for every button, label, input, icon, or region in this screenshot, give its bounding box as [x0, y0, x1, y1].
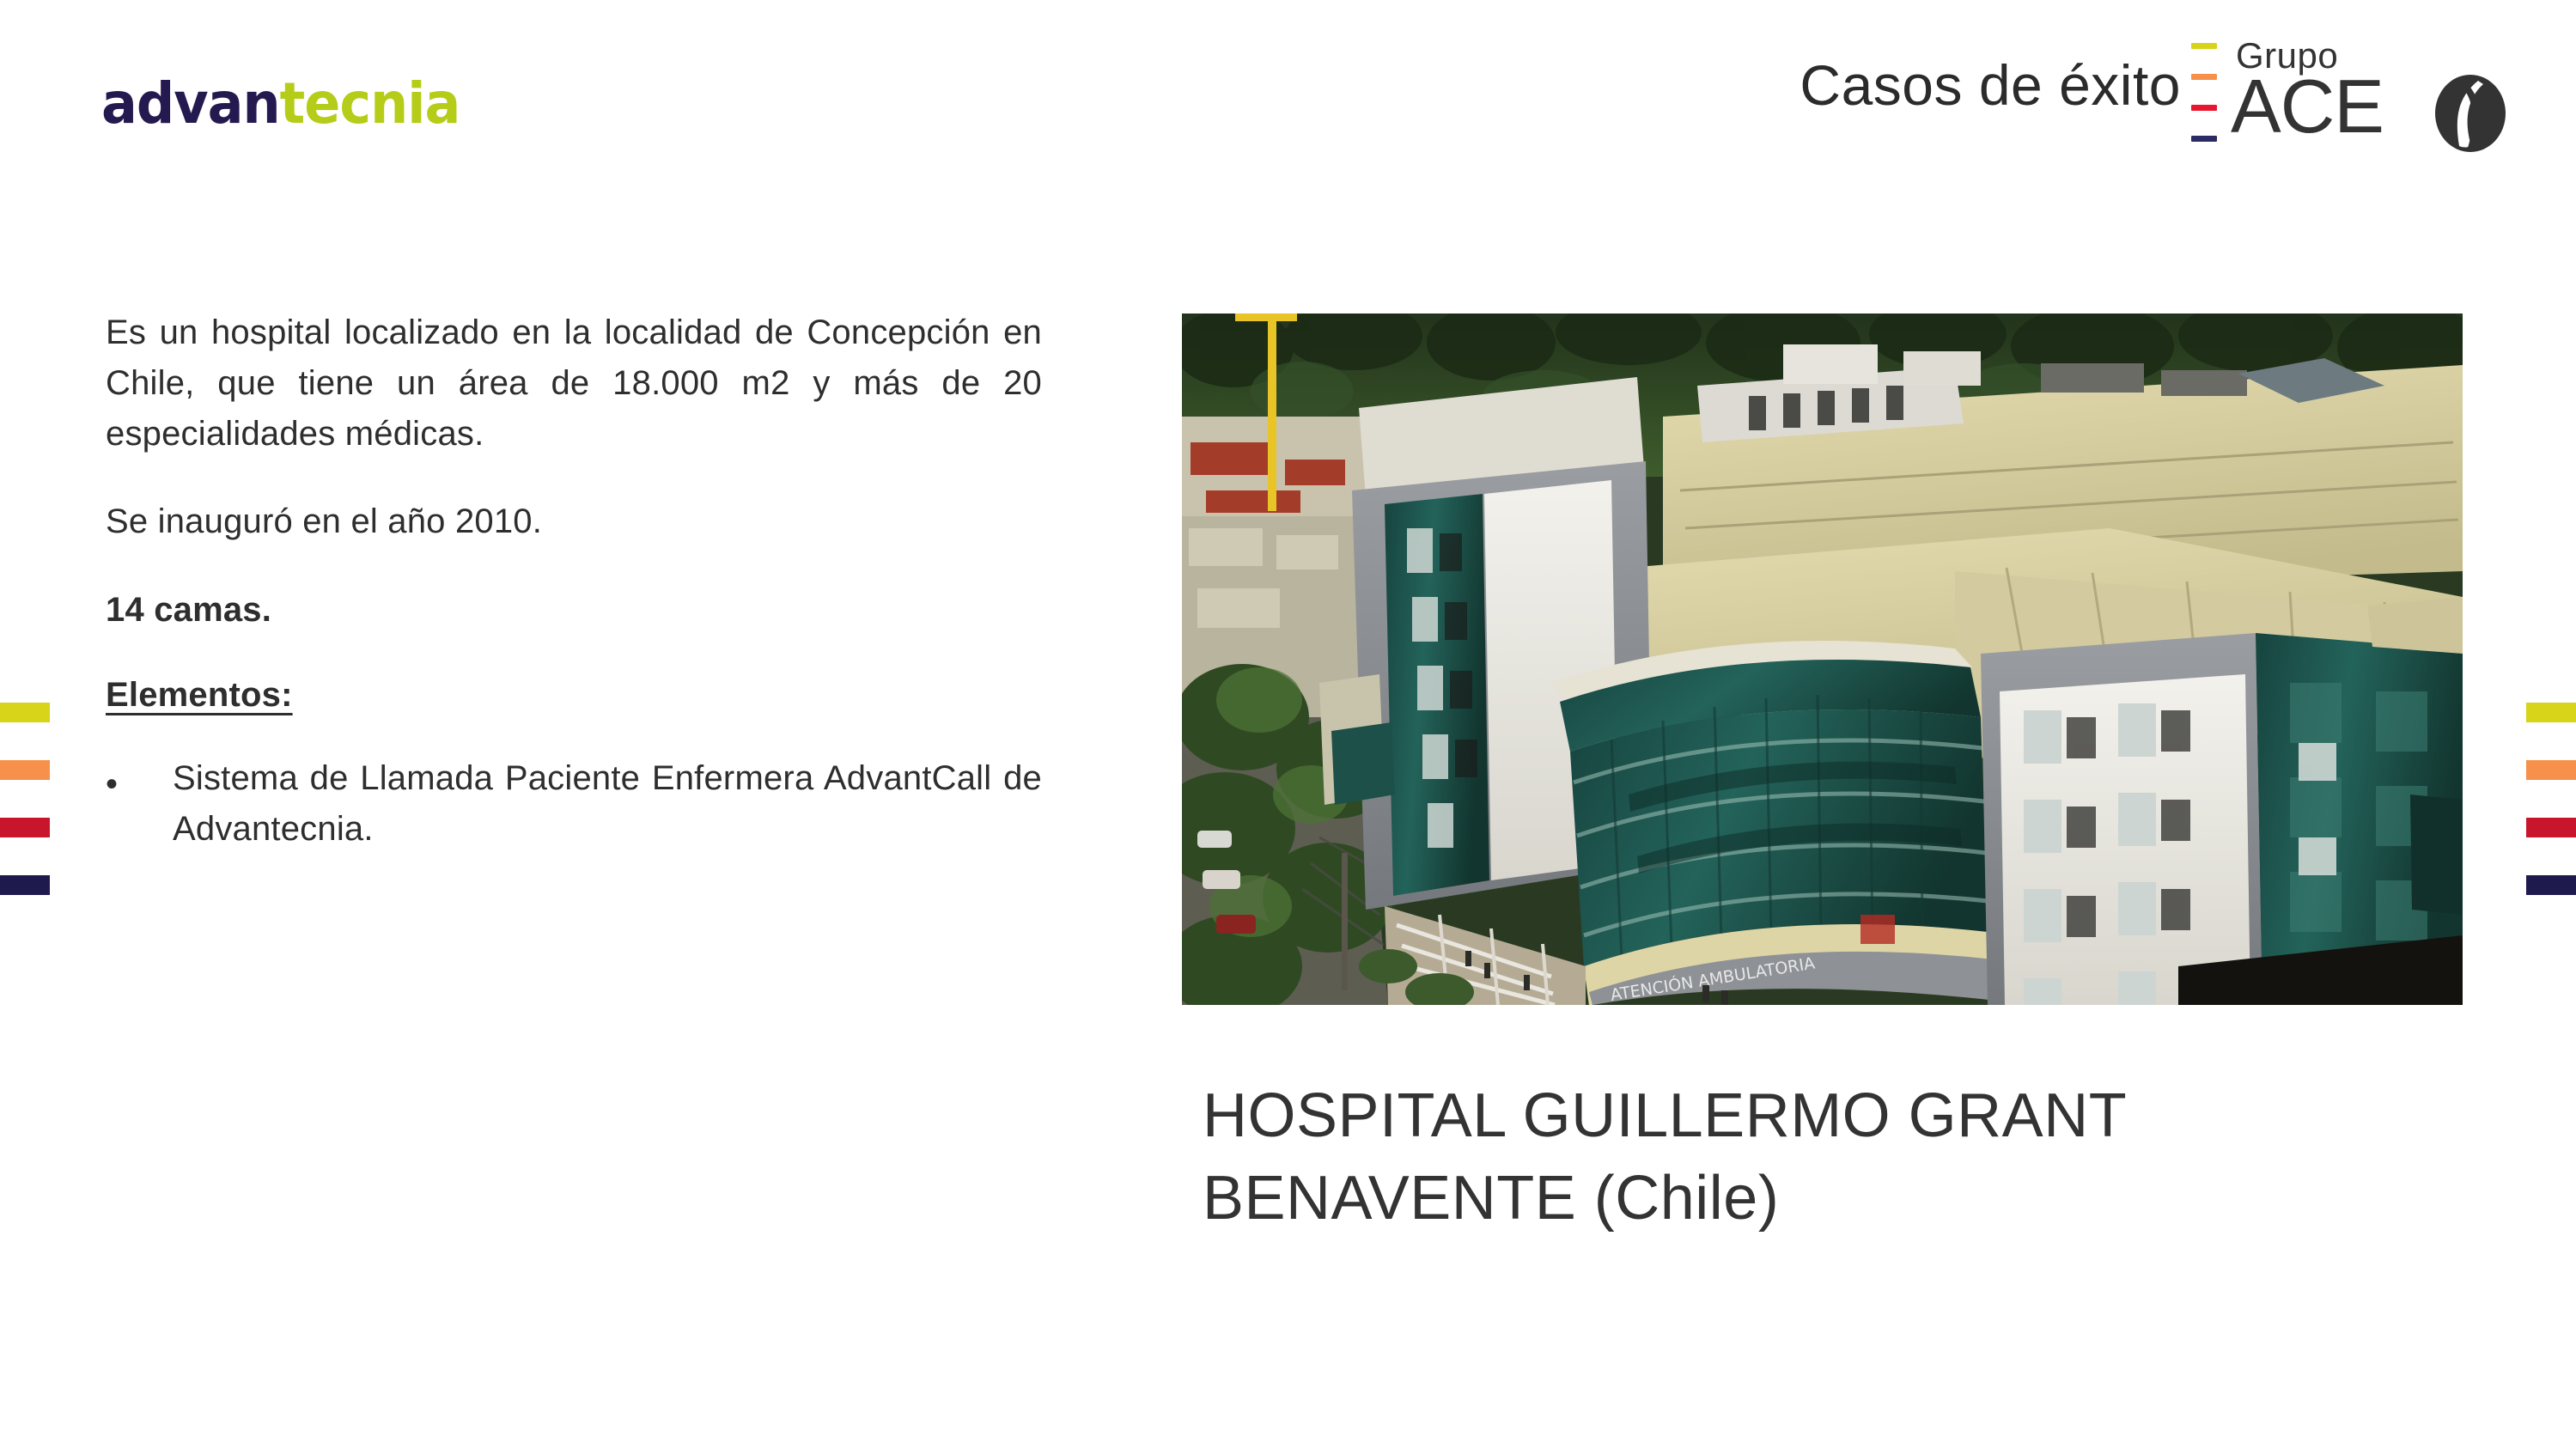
grupo-ace-logo: Grupo ACE [2191, 34, 2552, 155]
bar-orange [0, 760, 50, 780]
slide-caption: HOSPITAL GUILLERMO GRANT BENAVENTE (Chil… [1203, 1075, 2508, 1240]
list-item-label: Sistema de Llamada Paciente Enfermera Ad… [173, 753, 1042, 855]
elements-heading: Elementos: [106, 670, 1042, 721]
hospital-photo: ATENCIÓN AMBULATORIA [1182, 314, 2463, 1005]
bar-navy [2526, 875, 2576, 895]
list-item: • Sistema de Llamada Paciente Enfermera … [106, 753, 1042, 855]
bar-navy [0, 875, 50, 895]
bar-red [0, 818, 50, 837]
bullet-dot-icon: • [106, 753, 121, 801]
caption-line-2: BENAVENTE (Chile) [1203, 1158, 2508, 1240]
bar-orange [2526, 760, 2576, 780]
paragraph-beds: 14 camas. [106, 585, 1042, 636]
advantecnia-logo-part-a: advan [101, 70, 280, 137]
decor-bars-right [2526, 703, 2576, 895]
advantecnia-logo: advantecnia [101, 76, 460, 132]
grupo-ace-title: ACE [2231, 69, 2384, 144]
dash-navy-icon [2191, 136, 2217, 142]
content-column: Es un hospital localizado en la localida… [106, 307, 1042, 855]
decor-bars-left [0, 703, 50, 895]
paragraph-description: Es un hospital localizado en la localida… [106, 307, 1042, 460]
page-title: Casos de éxito [1800, 57, 2181, 113]
bar-yellow [0, 703, 50, 722]
ace-leaf-mark-icon [2433, 74, 2507, 153]
grupo-ace-dash-group [2191, 41, 2220, 149]
slide-root: advantecnia Casos de éxito Grupo ACE [0, 0, 2576, 1449]
bar-red [2526, 818, 2576, 837]
dash-orange-icon [2191, 74, 2217, 80]
paragraph-opening-year: Se inauguró en el año 2010. [106, 496, 1042, 547]
advantecnia-logo-part-b: tecnia [280, 70, 460, 137]
caption-line-1: HOSPITAL GUILLERMO GRANT [1203, 1075, 2508, 1158]
dash-yellow-icon [2191, 43, 2217, 49]
dash-red-icon [2191, 105, 2217, 111]
bar-yellow [2526, 703, 2576, 722]
